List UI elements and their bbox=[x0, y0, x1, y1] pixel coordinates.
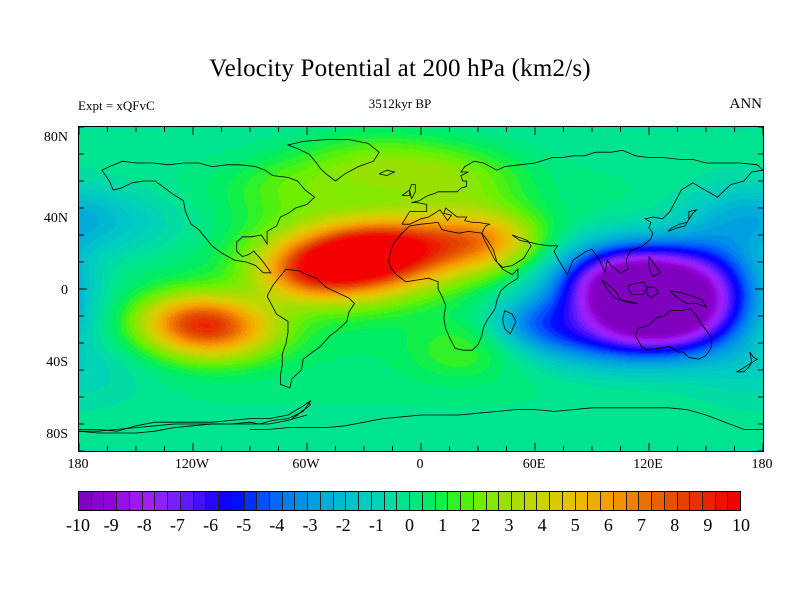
longitude-tick-label: 0 bbox=[390, 458, 450, 472]
latitude-tick-label: 40N bbox=[8, 212, 68, 226]
colorbar-cell bbox=[219, 492, 232, 510]
colorbar-cell bbox=[665, 492, 678, 510]
colorbar-cell bbox=[576, 492, 589, 510]
colorbar-cell bbox=[703, 492, 716, 510]
velocity-potential-field bbox=[79, 127, 763, 451]
colorbar-cell bbox=[639, 492, 652, 510]
longitude-tick-label: 60E bbox=[504, 458, 564, 472]
colorbar-cell bbox=[92, 492, 105, 510]
colorbar-cell bbox=[728, 492, 740, 510]
colorbar-cell bbox=[168, 492, 181, 510]
colorbar-cell bbox=[487, 492, 500, 510]
colorbar-cell bbox=[372, 492, 385, 510]
colorbar-cell bbox=[79, 492, 92, 510]
colorbar-cell bbox=[104, 492, 117, 510]
colorbar-swatches bbox=[78, 491, 741, 511]
colorbar-cell bbox=[245, 492, 258, 510]
colorbar-cell bbox=[627, 492, 640, 510]
colorbar-cell bbox=[257, 492, 270, 510]
colorbar-cell bbox=[678, 492, 691, 510]
colorbar-cell bbox=[436, 492, 449, 510]
colorbar-cell bbox=[461, 492, 474, 510]
colorbar-cell bbox=[308, 492, 321, 510]
colorbar-cell bbox=[346, 492, 359, 510]
latitude-tick-label: 0 bbox=[8, 284, 68, 298]
longitude-tick-label: 180 bbox=[732, 458, 792, 472]
colorbar-cell bbox=[690, 492, 703, 510]
map-field-and-coastlines bbox=[79, 127, 763, 451]
colorbar-cell bbox=[334, 492, 347, 510]
colorbar-cell bbox=[206, 492, 219, 510]
colorbar-cell bbox=[397, 492, 410, 510]
map-plot-area bbox=[78, 126, 764, 452]
colorbar-cell bbox=[130, 492, 143, 510]
colorbar-cell bbox=[550, 492, 563, 510]
colorbar-cell bbox=[474, 492, 487, 510]
latitude-tick-label: 80N bbox=[8, 131, 68, 145]
latitude-tick-label: 40S bbox=[8, 356, 68, 370]
colorbar-cell bbox=[410, 492, 423, 510]
latitude-tick-label: 80S bbox=[8, 428, 68, 442]
experiment-label: Expt = xQFvC bbox=[78, 98, 155, 114]
colorbar-cell bbox=[295, 492, 308, 510]
colorbar-cell bbox=[270, 492, 283, 510]
longitude-tick-label: 120E bbox=[618, 458, 678, 472]
colorbar-cell bbox=[117, 492, 130, 510]
colorbar bbox=[78, 491, 741, 511]
colorbar-cell bbox=[359, 492, 372, 510]
colorbar-cell bbox=[499, 492, 512, 510]
colorbar-tick-label: 10 bbox=[718, 516, 764, 534]
longitude-tick-label: 60W bbox=[276, 458, 336, 472]
longitude-tick-label: 180 bbox=[48, 458, 108, 472]
colorbar-cell bbox=[321, 492, 334, 510]
colorbar-cell bbox=[588, 492, 601, 510]
season-label: ANN bbox=[730, 96, 763, 113]
colorbar-cell bbox=[525, 492, 538, 510]
colorbar-cell bbox=[232, 492, 245, 510]
page-title: Velocity Potential at 200 hPa (km2/s) bbox=[0, 55, 800, 83]
colorbar-cell bbox=[652, 492, 665, 510]
figure-canvas: Velocity Potential at 200 hPa (km2/s) 35… bbox=[0, 0, 800, 600]
colorbar-cell bbox=[512, 492, 525, 510]
colorbar-cell bbox=[563, 492, 576, 510]
colorbar-cell bbox=[181, 492, 194, 510]
colorbar-cell bbox=[194, 492, 207, 510]
colorbar-cell bbox=[614, 492, 627, 510]
colorbar-cell bbox=[448, 492, 461, 510]
colorbar-cell bbox=[385, 492, 398, 510]
colorbar-cell bbox=[423, 492, 436, 510]
colorbar-cell bbox=[283, 492, 296, 510]
colorbar-cell bbox=[155, 492, 168, 510]
colorbar-cell bbox=[601, 492, 614, 510]
colorbar-cell bbox=[143, 492, 156, 510]
colorbar-cell bbox=[537, 492, 550, 510]
longitude-tick-label: 120W bbox=[162, 458, 222, 472]
colorbar-cell bbox=[716, 492, 729, 510]
